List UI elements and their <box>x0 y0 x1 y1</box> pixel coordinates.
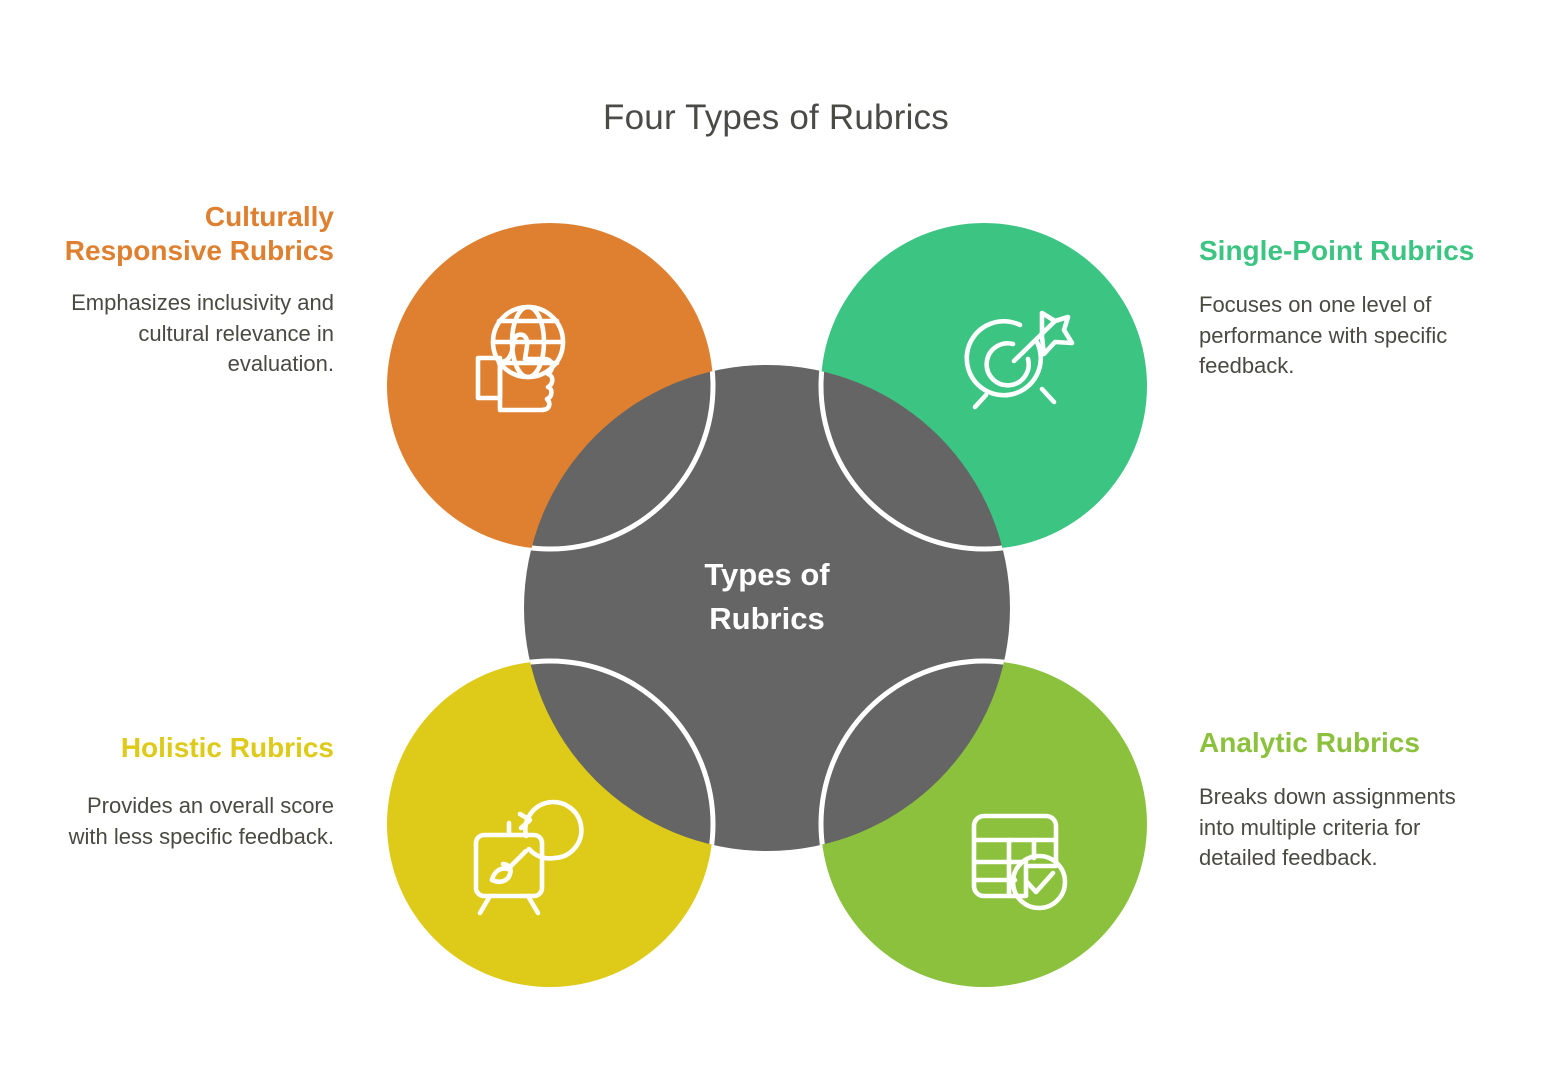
quadrant-description-culturally-responsive: Emphasizes inclusivity and cultural rele… <box>46 288 334 379</box>
quadrant-description-single-point: Focuses on one level of performance with… <box>1199 290 1487 381</box>
quadrant-text-culturally-responsive: Culturally Responsive Rubrics Emphasizes… <box>46 200 334 379</box>
infographic-root: Four Types of Rubrics <box>0 0 1552 1084</box>
quadrant-text-holistic: Holistic Rubrics Provides an overall sco… <box>46 731 334 852</box>
quadrant-heading-holistic: Holistic Rubrics <box>46 731 334 765</box>
quadrant-heading-single-point: Single-Point Rubrics <box>1199 234 1487 268</box>
quadrant-heading-analytic: Analytic Rubrics <box>1199 726 1487 760</box>
quadrant-text-single-point: Single-Point Rubrics Focuses on one leve… <box>1199 234 1487 381</box>
quadrant-heading-culturally-responsive: Culturally Responsive Rubrics <box>46 200 334 268</box>
quadrant-text-analytic: Analytic Rubrics Breaks down assignments… <box>1199 726 1487 873</box>
four-circle-venn-diagram <box>0 0 1552 1084</box>
quadrant-description-analytic: Breaks down assignments into multiple cr… <box>1199 782 1487 873</box>
quadrant-description-holistic: Provides an overall score with less spec… <box>46 791 334 852</box>
